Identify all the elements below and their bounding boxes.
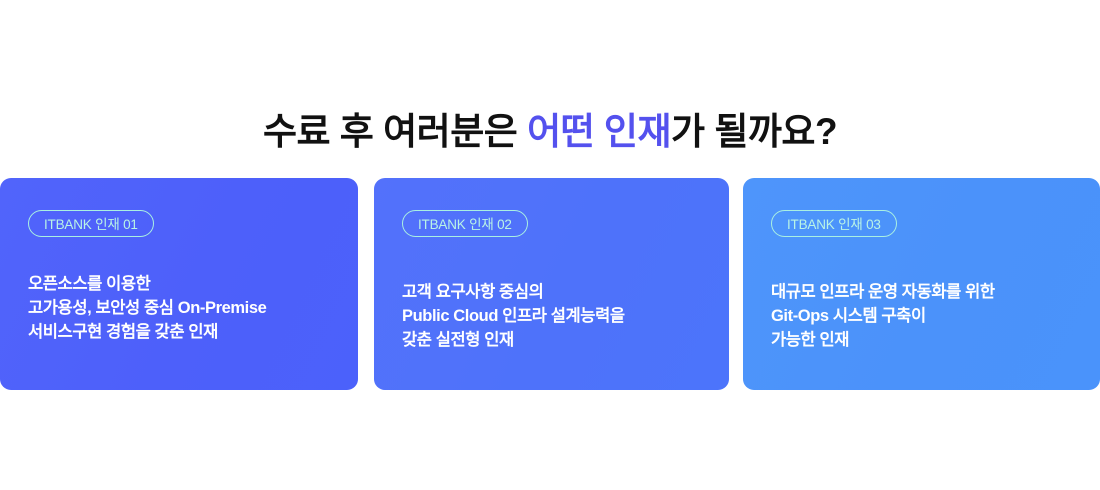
page-title-prefix: 수료 후 여러분은: [263, 111, 527, 152]
talent-card-1[interactable]: ITBANK 인재 01 오픈소스를 이용한 고가용성, 보안성 중심 On-P…: [0, 178, 358, 390]
promo-section: 수료 후 여러분은 어떤 인재가 될까요? ITBANK 인재 01 오픈소스를…: [0, 0, 1100, 490]
page-title: 수료 후 여러분은 어떤 인재가 될까요?: [0, 107, 1100, 157]
card-description-3: 대규모 인프라 운영 자동화를 위한 Git-Ops 시스템 구축이 가능한 인…: [771, 280, 995, 352]
talent-card-2[interactable]: ITBANK 인재 02 고객 요구사항 중심의 Public Cloud 인프…: [374, 178, 729, 390]
card-badge-3: ITBANK 인재 03: [771, 210, 897, 237]
card-badge-1: ITBANK 인재 01: [28, 210, 154, 237]
card-description-2: 고객 요구사항 중심의 Public Cloud 인프라 설계능력을 갖춘 실전…: [402, 280, 625, 352]
page-title-accent: 어떤 인재: [527, 111, 671, 152]
card-description-1: 오픈소스를 이용한 고가용성, 보안성 중심 On-Premise 서비스구현 …: [28, 272, 266, 344]
page-title-suffix: 가 될까요?: [671, 111, 837, 152]
talent-card-3[interactable]: ITBANK 인재 03 대규모 인프라 운영 자동화를 위한 Git-Ops …: [743, 178, 1100, 390]
card-badge-2: ITBANK 인재 02: [402, 210, 528, 237]
talent-card-row: ITBANK 인재 01 오픈소스를 이용한 고가용성, 보안성 중심 On-P…: [0, 178, 1100, 390]
